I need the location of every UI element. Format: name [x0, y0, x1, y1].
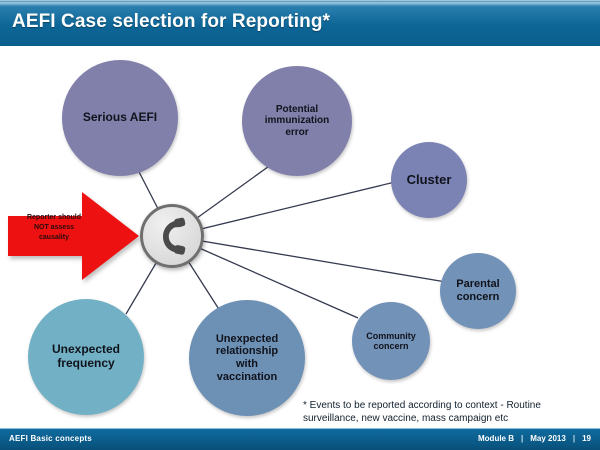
node-label-unexpected-relationship: Unexpected relationship with vaccination	[216, 333, 278, 383]
footer-page-number: 19	[582, 434, 591, 443]
edge-parental-concern	[172, 236, 446, 282]
footer-module: Module B	[478, 434, 514, 443]
footer-course-title: AEFI Basic concepts	[9, 434, 92, 443]
slide-footer: AEFI Basic concepts Module B | May 2013 …	[0, 428, 600, 450]
slide-canvas: AEFI Case selection for Reporting* Serio…	[0, 0, 600, 450]
reporting-hub[interactable]	[140, 204, 204, 268]
footer-meta: Module B | May 2013 | 19	[478, 434, 591, 443]
node-parental-concern[interactable]: Parental concern	[440, 253, 516, 329]
node-label-community-concern: Community concern	[366, 331, 416, 352]
node-label-unexpected-frequency: Unexpected frequency	[52, 343, 120, 370]
node-label-potential-immunization-error: Potential immunization error	[265, 104, 329, 138]
node-label-cluster: Cluster	[407, 173, 452, 188]
telephone-icon	[152, 216, 192, 256]
diagram-area: Serious AEFI Potential immunization erro…	[0, 46, 600, 428]
footnote-text: * Events to be reported according to con…	[303, 400, 593, 426]
edge-cluster	[172, 182, 395, 236]
node-unexpected-relationship-with-vaccination[interactable]: Unexpected relationship with vaccination	[189, 300, 305, 416]
node-cluster[interactable]: Cluster	[391, 142, 467, 218]
node-serious-aefi[interactable]: Serious AEFI	[62, 60, 178, 176]
slide-header: AEFI Case selection for Reporting*	[0, 0, 600, 46]
node-potential-immunization-error[interactable]: Potential immunization error	[242, 66, 352, 176]
node-unexpected-frequency[interactable]: Unexpected frequency	[28, 299, 144, 415]
node-label-serious-aefi: Serious AEFI	[83, 111, 157, 125]
arrow-note-text: Reporter should NOT assess causality	[8, 213, 100, 243]
page-title: AEFI Case selection for Reporting*	[12, 11, 330, 33]
footer-date: May 2013	[530, 434, 566, 443]
node-label-parental-concern: Parental concern	[456, 278, 499, 303]
node-community-concern[interactable]: Community concern	[352, 302, 430, 380]
footer-separator-2: |	[573, 434, 575, 443]
footer-separator-1: |	[521, 434, 523, 443]
